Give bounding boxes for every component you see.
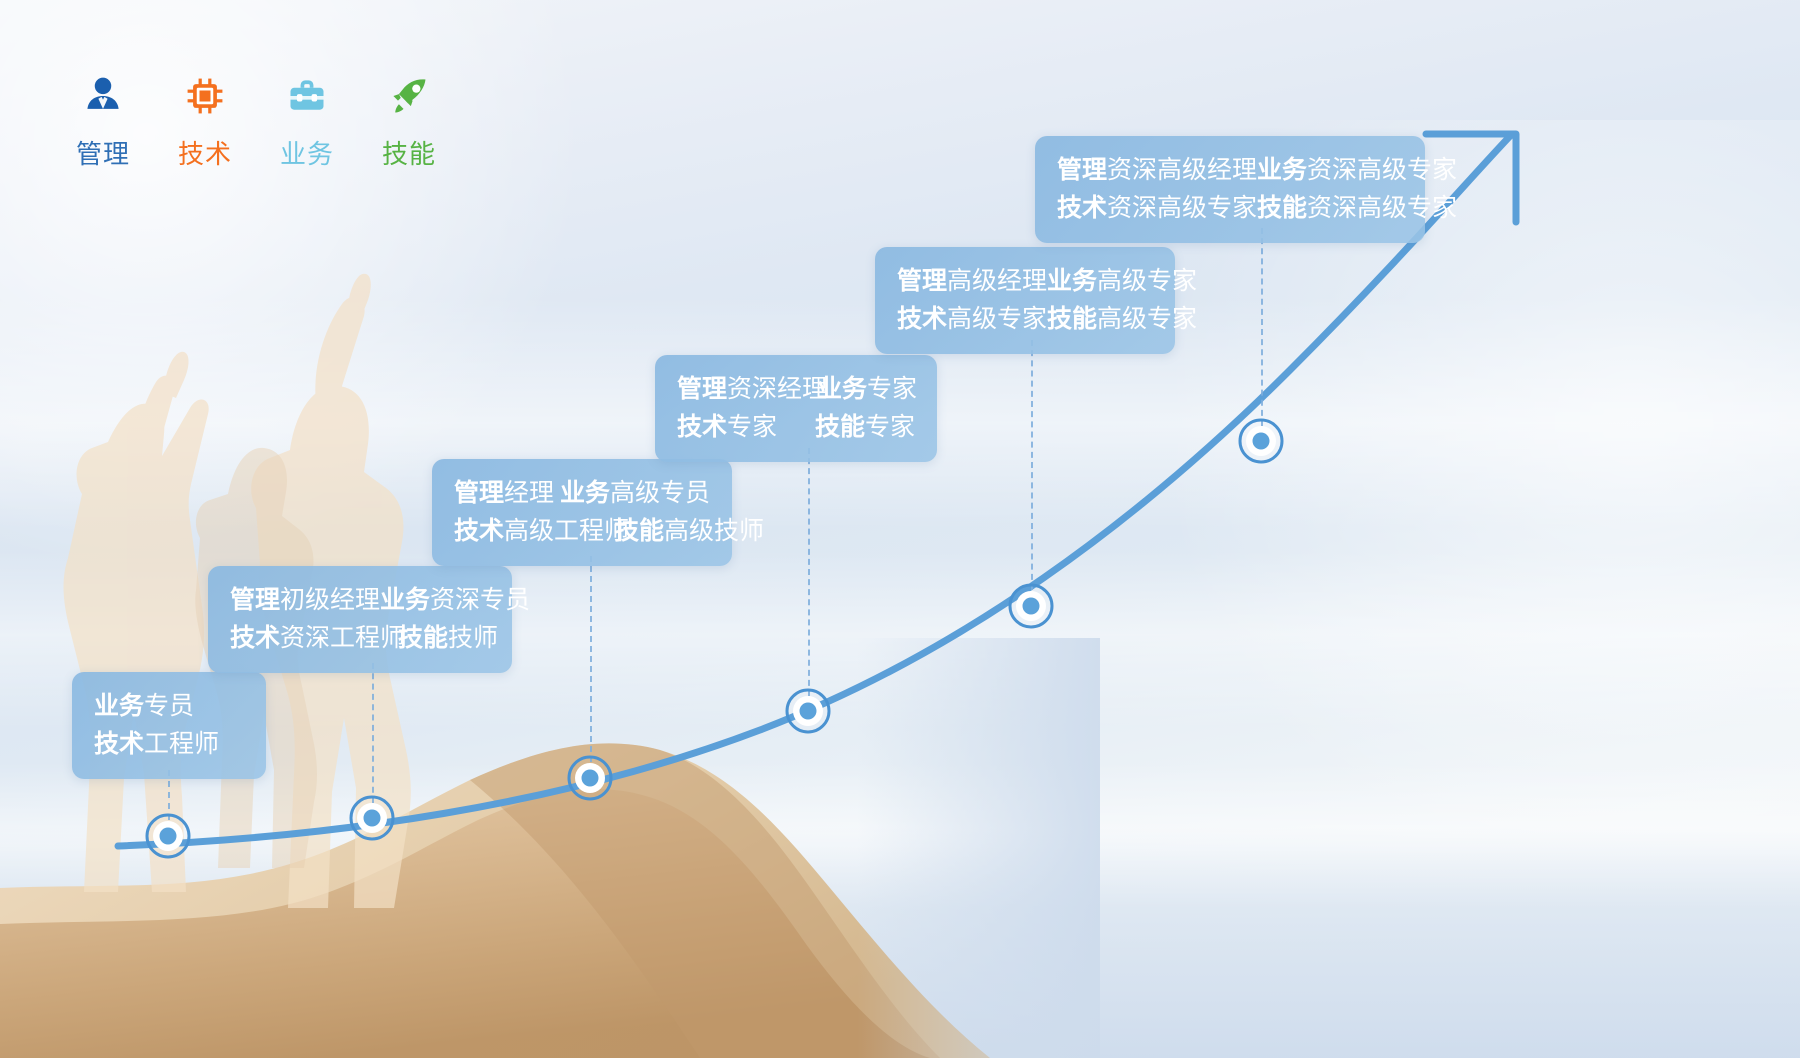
- track-label: 业务: [94, 688, 144, 726]
- track-label: 管理: [454, 475, 504, 513]
- curve-node: [147, 815, 189, 857]
- rank-label: 专员: [144, 688, 194, 726]
- rank-label: 高级专员: [610, 475, 710, 513]
- rocket-icon: [385, 72, 433, 120]
- track-label: 管理: [230, 582, 280, 620]
- legend-item-business[interactable]: 业务: [276, 72, 338, 171]
- rank-label: 高级经理: [947, 263, 1047, 301]
- curve-node: [1010, 585, 1052, 627]
- track-label: 技能: [398, 620, 448, 658]
- career-entry: 业务专员: [94, 688, 194, 726]
- career-level-row: 技术高级专家 技能高级专家: [897, 301, 1153, 339]
- track-label: 技能: [1257, 190, 1307, 228]
- rank-label: 资深经理: [727, 371, 827, 409]
- rank-label: 资深高级专家: [1307, 152, 1457, 190]
- rank-label: 资深高级经理: [1107, 152, 1257, 190]
- career-entry: 业务高级专家: [1047, 263, 1197, 301]
- career-entry: 技术资深工程师: [230, 620, 398, 658]
- career-level-card-4[interactable]: 管理资深经理 业务专家 技术专家 技能专家: [655, 355, 937, 462]
- career-entry: 管理高级经理: [897, 263, 1047, 301]
- career-level-row: 技术工程师: [94, 726, 244, 764]
- career-entry: 业务资深专员: [380, 582, 530, 620]
- track-label: 技术: [454, 513, 504, 551]
- cpu-chip-icon: [181, 72, 229, 120]
- track-label: 业务: [817, 371, 867, 409]
- career-entry: 管理资深经理: [677, 371, 817, 409]
- track-label: 业务: [380, 582, 430, 620]
- career-entry: 技能专家: [815, 409, 915, 447]
- rank-label: 专家: [727, 409, 777, 447]
- career-level-card-3[interactable]: 管理经理 业务高级专员 技术高级工程师 技能高级技师: [432, 459, 732, 566]
- legend-label-technology: 技术: [178, 134, 232, 171]
- manager-person-icon: [79, 72, 127, 120]
- rank-label: 专家: [867, 371, 917, 409]
- briefcase-icon: [283, 72, 331, 120]
- rank-label: 高级专家: [947, 301, 1047, 339]
- legend-label-management: 管理: [76, 134, 130, 171]
- curve-node: [1240, 420, 1282, 462]
- track-label: 技术: [1057, 190, 1107, 228]
- track-label: 技术: [677, 409, 727, 447]
- track-legend: 管理: [72, 72, 440, 171]
- career-level-row: 技术专家 技能专家: [677, 409, 915, 447]
- curve-node: [787, 690, 829, 732]
- infographic-canvas: 管理: [0, 0, 1800, 1058]
- career-entry: 技能高级专家: [1047, 301, 1197, 339]
- career-level-row: 业务专员: [94, 688, 244, 726]
- career-entry: 技能技师: [398, 620, 498, 658]
- career-level-row: 管理经理 业务高级专员: [454, 475, 710, 513]
- career-entry: 业务专家: [817, 371, 917, 409]
- rank-label: 初级经理: [280, 582, 380, 620]
- career-entry: 业务资深高级专家: [1257, 152, 1457, 190]
- career-entry: 技术高级工程师: [454, 513, 614, 551]
- track-label: 管理: [1057, 152, 1107, 190]
- career-entry: 管理资深高级经理: [1057, 152, 1257, 190]
- rank-label: 高级专家: [1097, 301, 1197, 339]
- legend-label-skill: 技能: [382, 134, 436, 171]
- career-entry: 管理经理: [454, 475, 560, 513]
- legend-item-technology[interactable]: 技术: [174, 72, 236, 171]
- rank-label: 资深高级专家: [1307, 190, 1457, 228]
- curve-node: [569, 757, 611, 799]
- career-entry: 业务高级专员: [560, 475, 710, 513]
- track-label: 业务: [560, 475, 610, 513]
- career-level-row: 管理资深高级经理 业务资深高级专家: [1057, 152, 1403, 190]
- career-level-row: 管理资深经理 业务专家: [677, 371, 915, 409]
- legend-item-management[interactable]: 管理: [72, 72, 134, 171]
- career-entry: 技术资深高级专家: [1057, 190, 1257, 228]
- track-label: 技术: [230, 620, 280, 658]
- career-level-row: 管理高级经理 业务高级专家: [897, 263, 1153, 301]
- rank-label: 高级专家: [1097, 263, 1197, 301]
- rank-label: 资深工程师: [280, 620, 405, 658]
- legend-item-skill[interactable]: 技能: [378, 72, 440, 171]
- career-entry: 技术高级专家: [897, 301, 1047, 339]
- legend-label-business: 业务: [280, 134, 334, 171]
- rank-label: 高级工程师: [504, 513, 629, 551]
- track-label: 技能: [614, 513, 664, 551]
- career-level-card-5[interactable]: 管理高级经理 业务高级专家 技术高级专家 技能高级专家: [875, 247, 1175, 354]
- rank-label: 专家: [865, 409, 915, 447]
- rank-label: 高级技师: [664, 513, 764, 551]
- rank-label: 经理: [504, 475, 554, 513]
- rank-label: 技师: [448, 620, 498, 658]
- track-label: 管理: [677, 371, 727, 409]
- career-level-row: 管理初级经理 业务资深专员: [230, 582, 490, 620]
- track-label: 技术: [897, 301, 947, 339]
- career-level-row: 技术高级工程师 技能高级技师: [454, 513, 710, 551]
- career-level-card-1[interactable]: 业务专员 技术工程师: [72, 672, 266, 779]
- track-label: 管理: [897, 263, 947, 301]
- track-label: 技术: [94, 726, 144, 764]
- rank-label: 资深高级专家: [1107, 190, 1257, 228]
- track-label: 业务: [1047, 263, 1097, 301]
- career-entry: 技能资深高级专家: [1257, 190, 1457, 228]
- track-label: 技能: [815, 409, 865, 447]
- career-entry: 技术工程师: [94, 726, 219, 764]
- curve-node: [351, 797, 393, 839]
- career-entry: 技能高级技师: [614, 513, 764, 551]
- career-level-row: 技术资深高级专家 技能资深高级专家: [1057, 190, 1403, 228]
- career-level-card-2[interactable]: 管理初级经理 业务资深专员 技术资深工程师 技能技师: [208, 566, 512, 673]
- track-label: 业务: [1257, 152, 1307, 190]
- rank-label: 资深专员: [430, 582, 530, 620]
- career-entry: 管理初级经理: [230, 582, 380, 620]
- career-level-row: 技术资深工程师 技能技师: [230, 620, 490, 658]
- rank-label: 工程师: [144, 726, 219, 764]
- career-entry: 技术专家: [677, 409, 815, 447]
- track-label: 技能: [1047, 301, 1097, 339]
- career-level-card-6[interactable]: 管理资深高级经理 业务资深高级专家 技术资深高级专家 技能资深高级专家: [1035, 136, 1425, 243]
